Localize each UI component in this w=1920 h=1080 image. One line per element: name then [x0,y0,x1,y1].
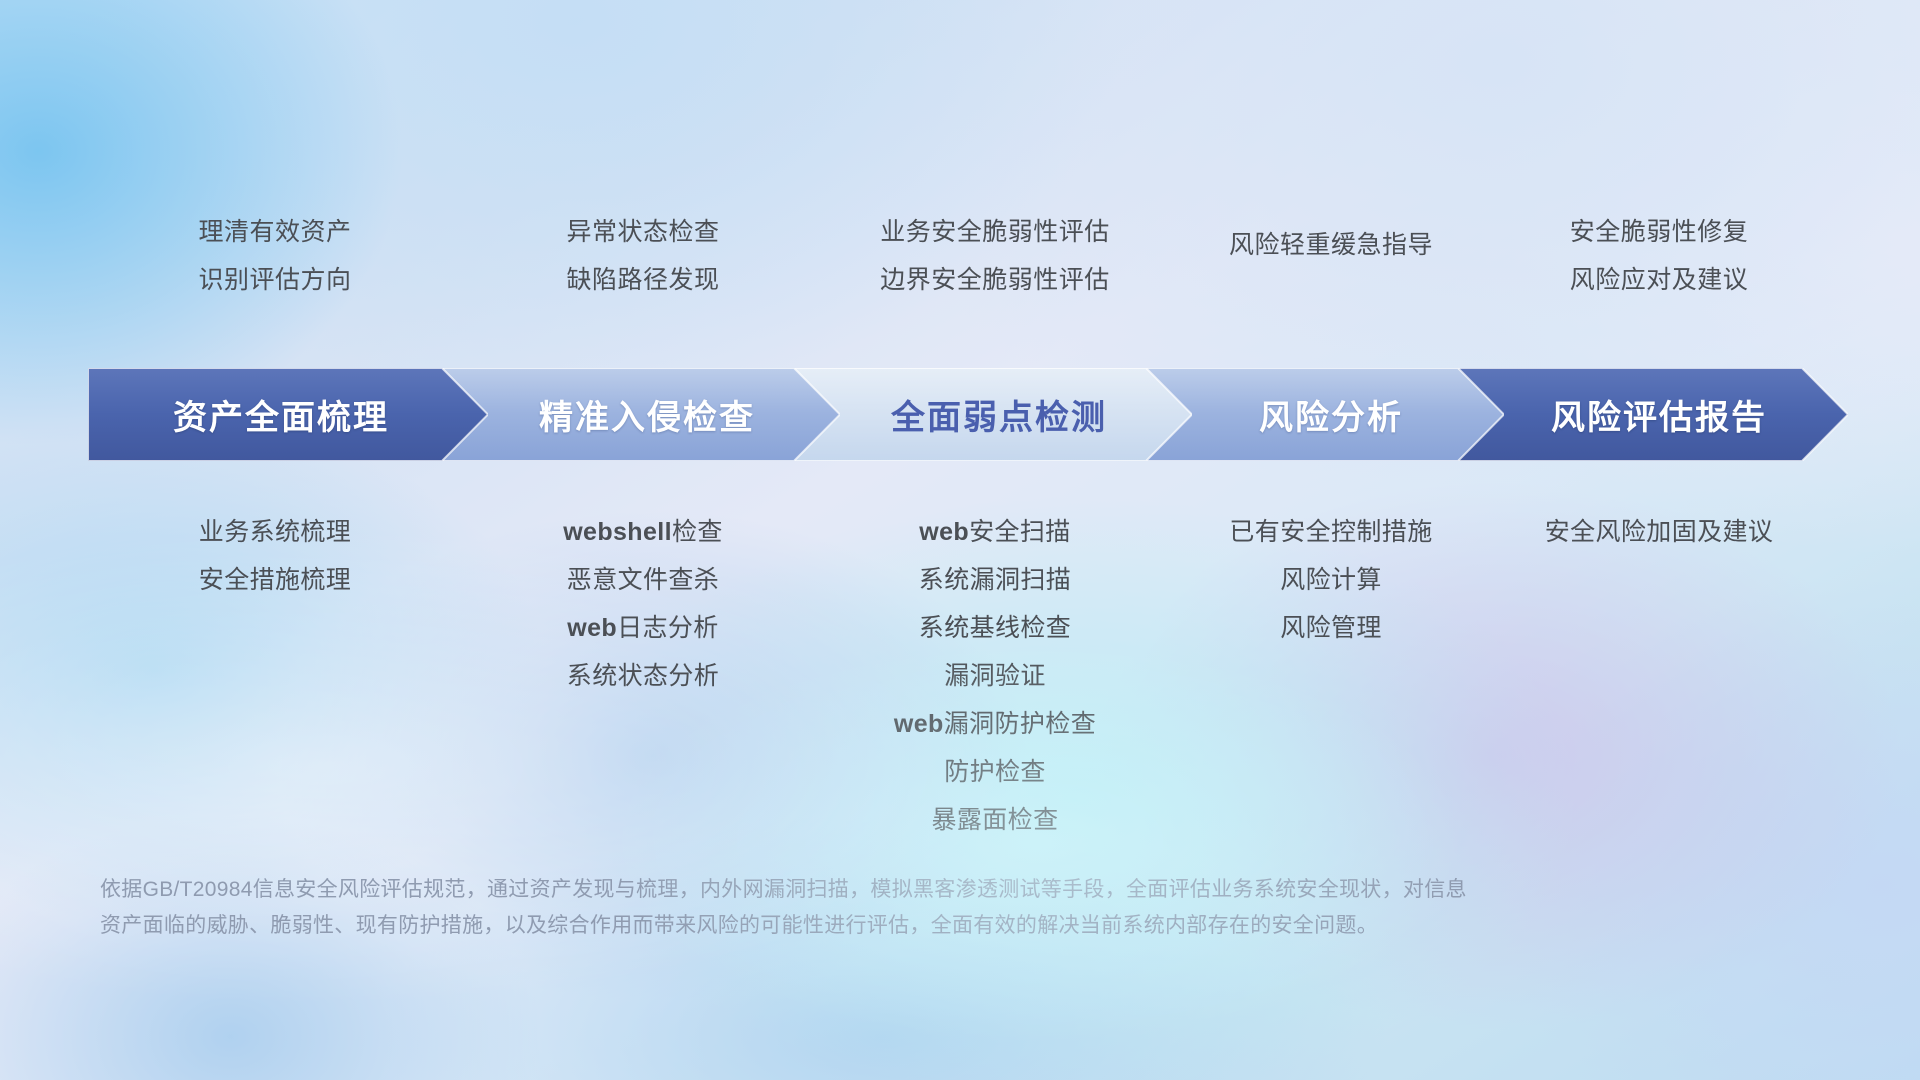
detail-item-text: 防护检查 [944,758,1046,786]
detail-item[interactable]: web漏洞防护检查 [695,700,1295,748]
detail-column-5: 安全风险加固及建议 [1359,508,1920,556]
detail-item-text: 风险计算 [1280,566,1382,594]
arrow-stage-2[interactable]: 精准入侵检查 [440,368,840,461]
detail-item[interactable]: 风险管理 [1031,604,1631,652]
detail-item-text: 风险管理 [1280,614,1382,642]
detail-item-keyword: web [894,710,944,738]
detail-item[interactable]: 防护检查 [695,748,1295,796]
arrow-stage-1[interactable]: 资产全面梳理 [88,368,488,461]
detail-item[interactable]: 风险计算 [1031,556,1631,604]
detail-item-keyword: web [567,614,617,642]
detail-item-keyword: webshell [563,518,672,546]
detail-item[interactable]: 安全风险加固及建议 [1359,508,1920,556]
detail-item-text: 漏洞验证 [944,662,1046,690]
arrow-label-2: 精准入侵检查 [539,390,755,439]
footer-line-1: 依据GB/T20984信息安全风险评估规范，通过资产发现与梳理，内外网漏洞扫描，… [100,872,1660,908]
detail-item[interactable]: 漏洞验证 [695,652,1295,700]
detail-item-text: 业务系统梳理 [199,518,351,546]
process-arrow-banner: 资产全面梳理精准入侵检查全面弱点检测风险分析风险评估报告 [88,368,1848,461]
detail-item-text: 安全风险加固及建议 [1545,518,1774,546]
slide-canvas: 理清有效资产识别评估方向异常状态检查缺陷路径发现业务安全脆弱性评估边界安全脆弱性… [0,0,1920,1080]
arrow-label-5: 风险评估报告 [1551,390,1767,439]
arrow-stage-4[interactable]: 风险分析 [1144,368,1504,461]
detail-item-keyword: web [919,518,969,546]
detail-item-text: 暴露面检查 [931,806,1058,834]
arrow-stage-5[interactable]: 风险评估报告 [1456,368,1848,461]
detail-item[interactable]: 暴露面检查 [695,796,1295,844]
detail-item-text: 漏洞防护检查 [944,710,1096,738]
footer-description: 依据GB/T20984信息安全风险评估规范，通过资产发现与梳理，内外网漏洞扫描，… [100,872,1660,944]
arrow-label-4: 风险分析 [1259,390,1403,439]
detail-item-text: 安全措施梳理 [199,566,351,594]
arrow-label-3: 全面弱点检测 [891,390,1107,439]
arrow-stage-3[interactable]: 全面弱点检测 [792,368,1192,461]
arrow-label-1: 资产全面梳理 [173,390,389,439]
footer-line-2: 资产面临的威胁、脆弱性、现有防护措施，以及综合作用而带来风险的可能性进行评估，全… [100,908,1660,944]
